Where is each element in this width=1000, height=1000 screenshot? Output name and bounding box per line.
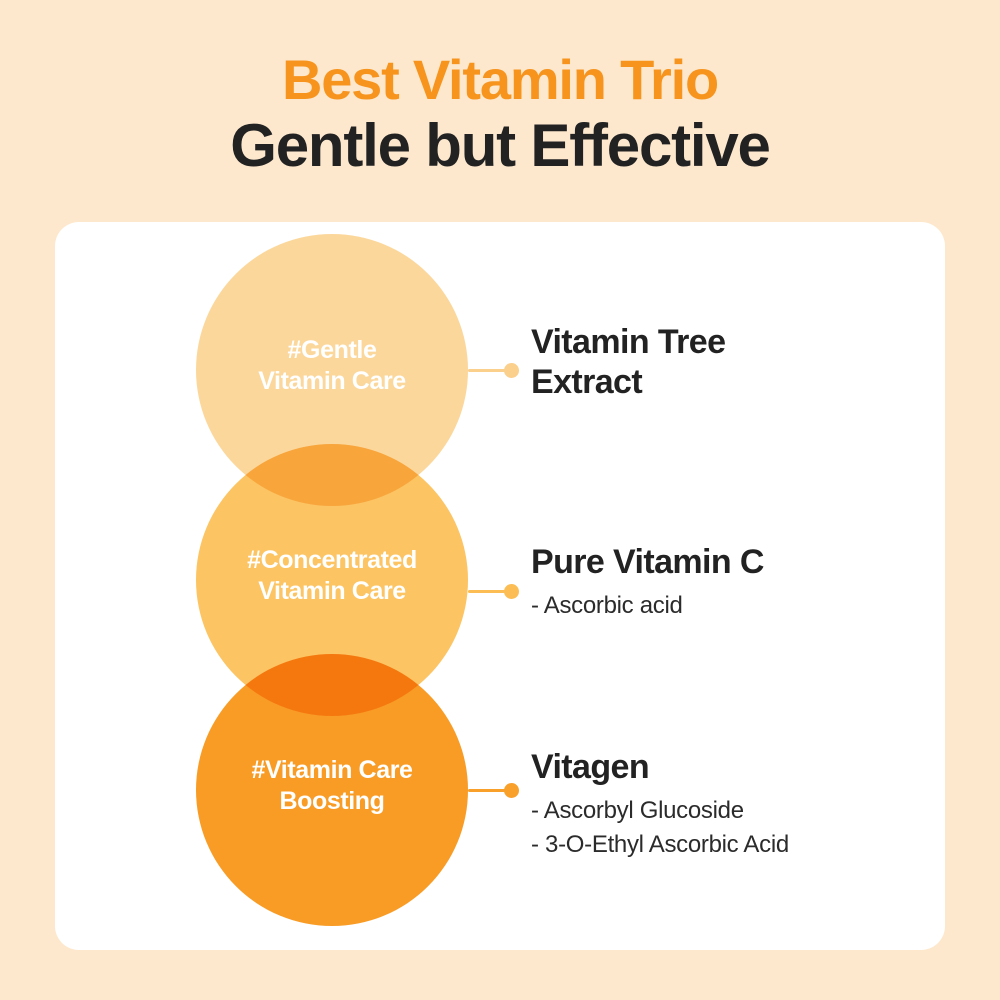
venn-label-concentrated-line2: Vitamin Care <box>196 576 468 607</box>
ingredient-detail-item: - Ascorbic acid <box>531 589 931 623</box>
venn-label-boosting: #Vitamin Care Boosting <box>196 755 468 816</box>
ingredient-title-line1: Pure Vitamin C <box>531 542 931 582</box>
venn-label-concentrated-line1: #Concentrated <box>196 545 468 576</box>
ingredient-title-line1: Vitamin Tree <box>531 322 931 362</box>
venn-label-concentrated: #Concentrated Vitamin Care <box>196 545 468 606</box>
ingredient-block-vitagen: Vitagen - Ascorbyl Glucoside - 3-O-Ethyl… <box>531 747 931 862</box>
infographic-poster: Best Vitamin Trio Gentle but Effective #… <box>0 0 1000 1000</box>
connector-stem-icon <box>468 590 508 593</box>
ingredient-title: Pure Vitamin C <box>531 542 931 582</box>
ingredient-detail-item: - Ascorbyl Glucoside <box>531 794 931 828</box>
ingredient-title: Vitamin Tree Extract <box>531 322 931 402</box>
ingredient-block-vitamin-tree-extract: Vitamin Tree Extract <box>531 322 931 402</box>
venn-label-gentle: #Gentle Vitamin Care <box>196 335 468 396</box>
headline-line-secondary: Gentle but Effective <box>0 116 1000 176</box>
connector-dot-icon <box>504 584 519 599</box>
ingredient-title-line2: Extract <box>531 362 931 402</box>
ingredient-detail-list: - Ascorbic acid <box>531 589 931 623</box>
venn-label-gentle-line1: #Gentle <box>196 335 468 366</box>
connector-stem-icon <box>468 369 508 372</box>
ingredient-title: Vitagen <box>531 747 931 787</box>
venn-label-boosting-line2: Boosting <box>196 786 468 817</box>
content-card: #Gentle Vitamin Care #Concentrated Vitam… <box>55 222 945 950</box>
venn-label-boosting-line1: #Vitamin Care <box>196 755 468 786</box>
headline-line-primary: Best Vitamin Trio <box>0 52 1000 108</box>
ingredient-title-line1: Vitagen <box>531 747 931 787</box>
ingredient-detail-item: - 3-O-Ethyl Ascorbic Acid <box>531 828 931 862</box>
ingredient-block-pure-vitamin-c: Pure Vitamin C - Ascorbic acid <box>531 542 931 623</box>
page-title: Best Vitamin Trio Gentle but Effective <box>0 52 1000 176</box>
connector-dot-icon <box>504 363 519 378</box>
connector-dot-icon <box>504 783 519 798</box>
venn-label-gentle-line2: Vitamin Care <box>196 366 468 397</box>
ingredient-detail-list: - Ascorbyl Glucoside - 3-O-Ethyl Ascorbi… <box>531 794 931 862</box>
connector-stem-icon <box>468 789 508 792</box>
